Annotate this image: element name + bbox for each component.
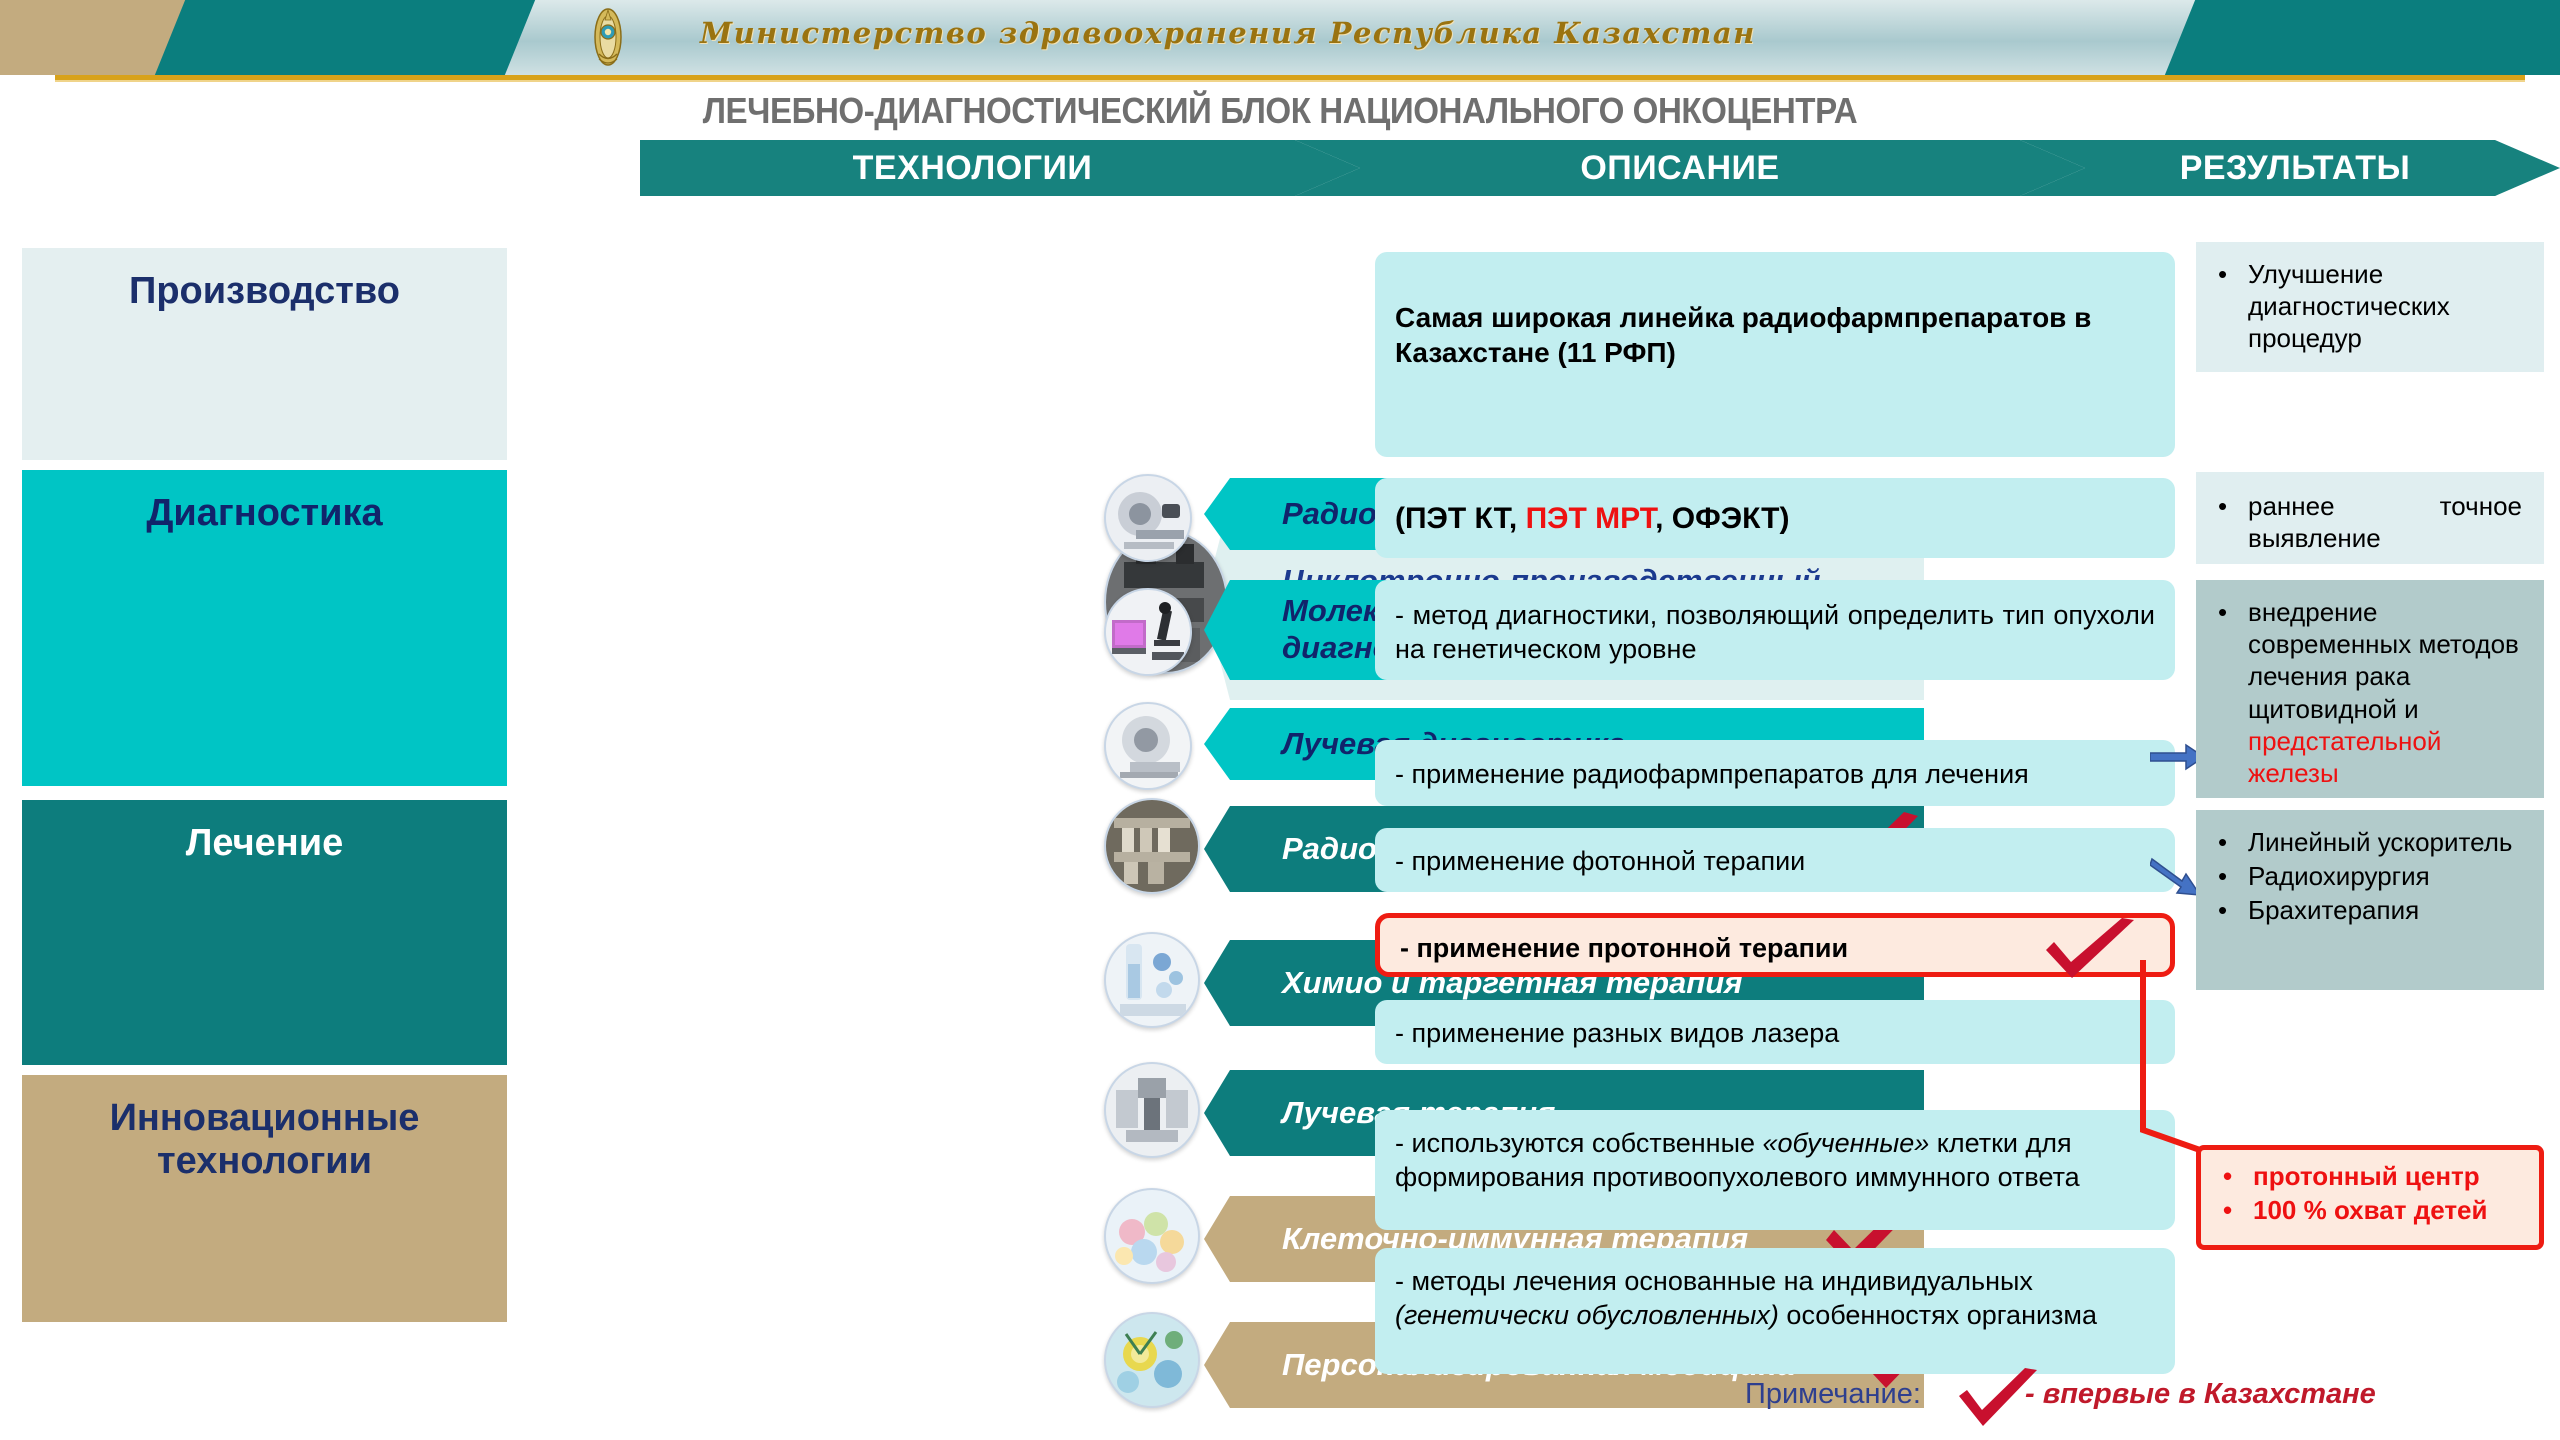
result-early-word3: выявление <box>2248 523 2381 553</box>
desc-pet-prefix: (ПЭТ КТ, <box>1395 502 1526 535</box>
result-red-item: протонный центр <box>2235 1160 2531 1192</box>
pet-scanner-icon <box>1104 474 1192 562</box>
cell-culture-icon <box>1104 1188 1200 1284</box>
category-diagnostics-label: Диагностика <box>146 492 382 535</box>
radionuclide-lab-icon <box>1104 798 1200 894</box>
result-treatment-item: Радиохирургия <box>2230 860 2536 892</box>
desc-laser-text: - применение разных видов лазера <box>1395 1018 1839 1048</box>
desc-genetic-text: - метод диагностики, позволяющий определ… <box>1395 600 2155 664</box>
result-treatment-item: Линейный ускоритель <box>2230 826 2536 858</box>
desc-box-pet: (ПЭТ КТ, ПЭТ МРТ, ОФЭКТ) <box>1375 478 2175 558</box>
result-red-item: 100 % охват детей <box>2235 1194 2531 1226</box>
tab-technologies-label: ТЕХНОЛОГИИ <box>853 149 1093 188</box>
tab-results-label: РЕЗУЛЬТАТЫ <box>2180 149 2411 188</box>
desc-cell-italic: «обученные» <box>1763 1128 1930 1158</box>
result-early-word2: точное <box>2440 490 2522 522</box>
result-early-word1: раннее <box>2248 490 2335 522</box>
footnote: Примечание: - впервые в Казахстане <box>1745 1378 2376 1411</box>
result-treatment-item: Брахитерапия <box>2230 894 2536 926</box>
desc-box-genetic: - метод диагностики, позволяющий определ… <box>1375 580 2175 680</box>
result-improve-line2: диагностических <box>2248 291 2450 321</box>
desc-personal-italic: (генетически обусловленных) <box>1395 1300 1779 1330</box>
result-box-proton-center: протонный центр 100 % охват детей <box>2196 1145 2544 1250</box>
footnote-label: Примечание: <box>1745 1378 1921 1410</box>
category-diagnostics[interactable]: Диагностика <box>22 470 507 786</box>
result-improve-line1: Улучшение <box>2248 259 2383 289</box>
page-title: ЛЕЧЕБНО-ДИАГНОСТИЧЕСКИЙ БЛОК НАЦИОНАЛЬНО… <box>102 90 2457 132</box>
ministry-title: Министерство здравоохранения Республика … <box>700 16 1756 50</box>
virus-cell-icon <box>1104 1312 1200 1408</box>
result-box-treatment-list: Линейный ускоритель Радиохирургия Брахит… <box>2196 810 2544 990</box>
category-production[interactable]: Производство <box>22 248 507 460</box>
desc-pet-highlight: ПЭТ МРТ <box>1526 502 1656 535</box>
desc-box-photon: - применение фотонной терапии <box>1375 828 2175 892</box>
desc-photon-text: - применение фотонной терапии <box>1395 846 1805 876</box>
microscope-icon <box>1104 588 1192 676</box>
desc-box-cell-immune: - используются собственные «обученные» к… <box>1375 1110 2175 1230</box>
desc-box-personalized: - методы лечения основанные на индивидуа… <box>1375 1248 2175 1374</box>
column-header-tabs: ТЕХНОЛОГИИ ОПИСАНИЕ РЕЗУЛЬТАТЫ <box>640 140 2560 202</box>
desc-box-proton: - применение протонной терапии <box>1375 913 2175 977</box>
tab-technologies[interactable]: ТЕХНОЛОГИИ <box>640 140 1360 196</box>
category-production-label: Производство <box>129 270 400 313</box>
desc-box-laser: - применение разных видов лазера <box>1375 1000 2175 1064</box>
desc-pet-suffix: , ОФЭКТ) <box>1655 502 1789 535</box>
ct-scanner-icon <box>1104 702 1192 790</box>
tab-results[interactable]: РЕЗУЛЬТАТЫ <box>2020 140 2560 196</box>
desc-box-radiopharm: - применение радиофармпрепаратов для леч… <box>1375 740 2175 806</box>
tab-description-label: ОПИСАНИЕ <box>1580 149 1779 188</box>
kazakhstan-emblem-icon <box>585 6 631 68</box>
desc-cell-part1: - используются собственные <box>1395 1128 1763 1158</box>
result-box-improve-diagnostics: Улучшение диагностических процедур <box>2196 242 2544 372</box>
linac-icon <box>1104 1062 1200 1158</box>
desc-box-rfp: Самая широкая линейка радиофармпрепарато… <box>1375 252 2175 457</box>
result-box-modern-methods: внедрение современных методов лечения ра… <box>2196 580 2544 798</box>
category-treatment-label: Лечение <box>186 822 344 865</box>
result-box-early-detection: раннее точное выявление <box>2196 472 2544 564</box>
header-content: Министерство здравоохранения Республика … <box>0 0 2560 75</box>
category-innovative-technologies-label: Инновационные технологии <box>22 1097 507 1182</box>
result-modern-red: предстательной железы <box>2248 726 2441 788</box>
tab-description[interactable]: ОПИСАНИЕ <box>1295 140 2085 196</box>
desc-radiopharm-text: - применение радиофармпрепаратов для леч… <box>1395 759 2029 789</box>
category-innovative-technologies[interactable]: Инновационные технологии <box>22 1075 507 1322</box>
header-gold-rule-light <box>55 80 2525 82</box>
desc-personal-part2: особенностях организма <box>1779 1300 2097 1330</box>
desc-proton-text: - применение протонной терапии <box>1400 933 1848 963</box>
chemotherapy-icon <box>1104 932 1200 1028</box>
result-improve-line3: процедур <box>2248 323 2362 353</box>
footnote-value: - впервые в Казахстане <box>2025 1378 2376 1410</box>
result-modern-black: внедрение современных методов лечения ра… <box>2248 597 2519 724</box>
desc-personal-part1: - методы лечения основанные на индивидуа… <box>1395 1266 2033 1296</box>
category-treatment[interactable]: Лечение <box>22 800 507 1065</box>
desc-rfp-text: Самая широкая линейка радиофармпрепарато… <box>1395 302 2091 368</box>
